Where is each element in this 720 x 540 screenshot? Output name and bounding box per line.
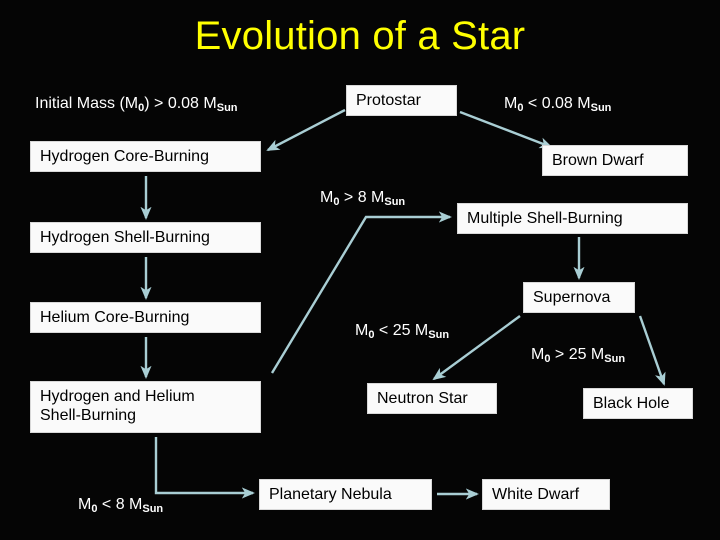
arrow-layer [0,0,720,540]
node-brown-dwarf[interactable]: Brown Dwarf [542,145,688,176]
node-supernova[interactable]: Supernova [523,282,635,313]
slide-canvas: Evolution of a Star ProtostarHydrogen Co… [0,0,720,540]
arrow-protostar-to-hydrogen-core [268,110,345,150]
label-mass-lt-8: M0 < 8 MSun [78,495,163,516]
label-mass-gt-8: M0 > 8 MSun [320,188,405,209]
node-helium-core[interactable]: Helium Core-Burning [30,302,261,333]
node-planetary-nebula[interactable]: Planetary Nebula [259,479,432,510]
node-protostar[interactable]: Protostar [346,85,457,116]
node-black-hole[interactable]: Black Hole [583,388,693,419]
node-hydrogen-shell[interactable]: Hydrogen Shell-Burning [30,222,261,253]
arrow-hhshell-to-multiple-shell [272,217,450,373]
node-hydrogen-helium[interactable]: Hydrogen and Helium Shell-Burning [30,381,261,433]
label-initial-mass-high: Initial Mass (M0) > 0.08 MSun [35,94,238,115]
page-title: Evolution of a Star [0,12,720,60]
node-white-dwarf[interactable]: White Dwarf [482,479,610,510]
arrow-protostar-to-brown-dwarf [460,112,551,147]
arrow-supernova-to-black-hole [640,316,664,384]
arrow-hhshell-to-planetary [156,437,253,493]
node-neutron-star[interactable]: Neutron Star [367,383,497,414]
label-mass-gt-25: M0 > 25 MSun [531,345,625,366]
label-mass-lt-25: M0 < 25 MSun [355,321,449,342]
node-hydrogen-core[interactable]: Hydrogen Core-Burning [30,141,261,172]
node-multiple-shell[interactable]: Multiple Shell-Burning [457,203,688,234]
label-mass-low-008: M0 < 0.08 MSun [504,94,611,115]
